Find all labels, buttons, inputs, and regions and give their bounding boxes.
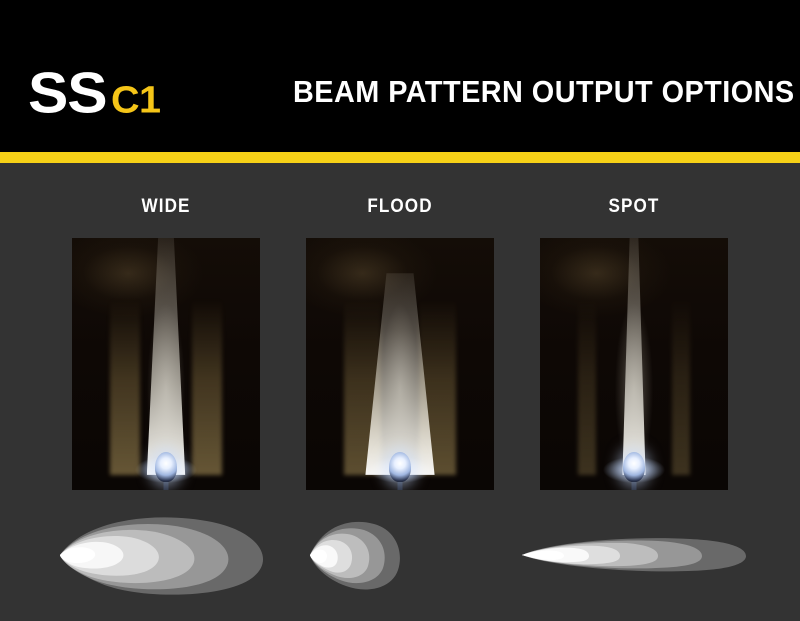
content-area: WIDE	[0, 163, 800, 621]
wide-beam-diagram	[46, 508, 286, 603]
roadside-glow-right	[192, 299, 222, 475]
beam-layers	[310, 522, 400, 590]
beam-option-label-flood: FLOOD	[292, 197, 508, 216]
light-source-icon	[623, 452, 645, 482]
flood-beam-diagram	[280, 508, 520, 603]
accent-divider	[0, 152, 800, 163]
logo-primary-text: SS	[28, 65, 106, 122]
beam-photo-spot	[540, 238, 728, 490]
roadside-glow-right	[672, 299, 691, 475]
roadside-glow-left	[578, 299, 597, 475]
beam-photo-wide	[72, 238, 260, 490]
beam-layers	[60, 517, 263, 594]
light-source-icon	[389, 452, 411, 482]
ssc1-logo: SSC1	[28, 68, 156, 124]
beam-option-label-wide: WIDE	[58, 197, 274, 216]
header-bar: SSC1 BEAM PATTERN OUTPUT OPTIONS	[0, 0, 800, 152]
beam-option-label-spot: SPOT	[526, 197, 742, 216]
flood-beam-svg	[280, 508, 520, 603]
beam-photo-flood	[306, 238, 494, 490]
wide-beam-svg	[46, 508, 286, 603]
beam-core	[522, 551, 564, 560]
beam-layers	[522, 538, 746, 571]
spot-beam-diagram	[514, 508, 754, 603]
page-title: BEAM PATTERN OUTPUT OPTIONS	[293, 76, 745, 107]
roadside-glow-left	[110, 299, 140, 475]
logo-secondary-text: C1	[111, 81, 161, 119]
light-source-icon	[155, 452, 177, 482]
spot-beam-svg	[514, 508, 754, 603]
beam-pattern-infographic: SSC1 BEAM PATTERN OUTPUT OPTIONS WIDE	[0, 0, 800, 621]
